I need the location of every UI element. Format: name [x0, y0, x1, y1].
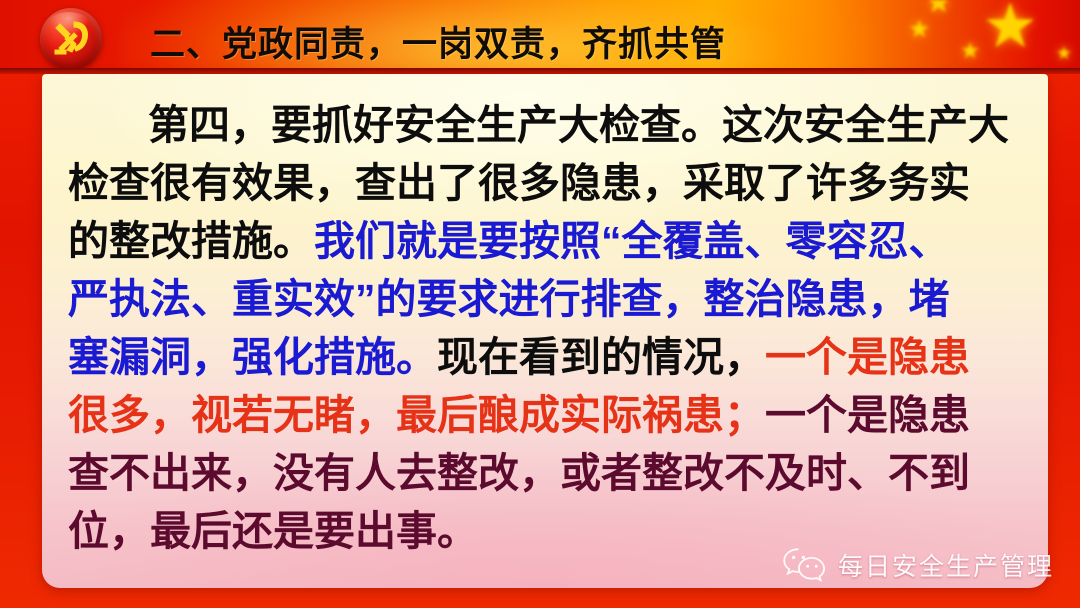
- body-line: 很多，视若无睹，最后酿成实际祸患；一个是隐患: [68, 386, 1022, 444]
- body-text: 第四，要抓好安全生产大检查。这次安全生产大检查很有效果，查出了很多隐患，采取了许…: [68, 96, 1022, 560]
- body-line: 严执法、重实效”的要求进行排查，整治隐患，堵: [68, 270, 1022, 328]
- text-run-black: 第四，要抓好安全生产大检查。这次安全生产大: [148, 102, 1009, 148]
- star-icon: ★: [1056, 44, 1072, 62]
- body-line: 查不出来，没有人去整改，或者整改不及时、不到: [68, 444, 1022, 502]
- body-line: 塞漏洞，强化措施。现在看到的情况，一个是隐患: [68, 328, 1022, 386]
- star-icon: ★: [908, 18, 930, 42]
- watermark-label: 每日安全生产管理: [838, 547, 1054, 583]
- wechat-icon: [782, 546, 828, 584]
- text-run-red: 一个是隐患: [765, 334, 970, 380]
- text-run-blue: 塞漏洞，强化措施。: [68, 334, 437, 380]
- body-line: 的整改措施。我们就是要按照“全覆盖、零容忍、: [68, 212, 1022, 270]
- text-run-blue: 我们就是要按照“全覆盖、零容忍、: [314, 218, 950, 264]
- page-title: 二、党政同责，一岗双责，齐抓共管: [150, 16, 726, 67]
- text-run-black: 现在看到的情况，: [437, 334, 765, 380]
- star-icon: ★: [982, 0, 1038, 58]
- star-icon: ★: [960, 40, 980, 62]
- text-run-blue: 严执法、重实效”的要求进行排查，整治隐患，堵: [68, 276, 950, 322]
- text-run-black: 检查很有效果，查出了很多隐患，采取了许多务实: [68, 160, 970, 206]
- text-run-red: 很多，视若无睹，最后酿成实际祸患；: [68, 392, 765, 438]
- text-run-maroon: 一个是隐患: [765, 392, 970, 438]
- body-paragraph: 第四，要抓好安全生产大检查。这次安全生产大检查很有效果，查出了很多隐患，采取了许…: [68, 96, 1022, 560]
- text-run-maroon: 查不出来，没有人去整改，或者整改不及时、不到: [68, 450, 970, 496]
- presentation-slide: ★ ★ ★ ★ ★ ★ ★ ★ ★ ★ 二、党政同责，一岗双责，齐抓共管: [0, 0, 1080, 608]
- body-line: 第四，要抓好安全生产大检查。这次安全生产大: [68, 96, 1022, 154]
- watermark: 每日安全生产管理: [782, 546, 1054, 584]
- body-line: 检查很有效果，查出了很多隐患，采取了许多务实: [68, 154, 1022, 212]
- party-emblem-icon: [40, 8, 102, 70]
- text-run-black: 的整改措施。: [68, 218, 314, 264]
- content-panel: 第四，要抓好安全生产大检查。这次安全生产大检查很有效果，查出了很多隐患，采取了许…: [42, 74, 1048, 588]
- decorative-stars-right: ★ ★ ★ ★ ★: [850, 0, 1080, 70]
- text-run-maroon: 位，最后还是要出事。: [68, 508, 478, 554]
